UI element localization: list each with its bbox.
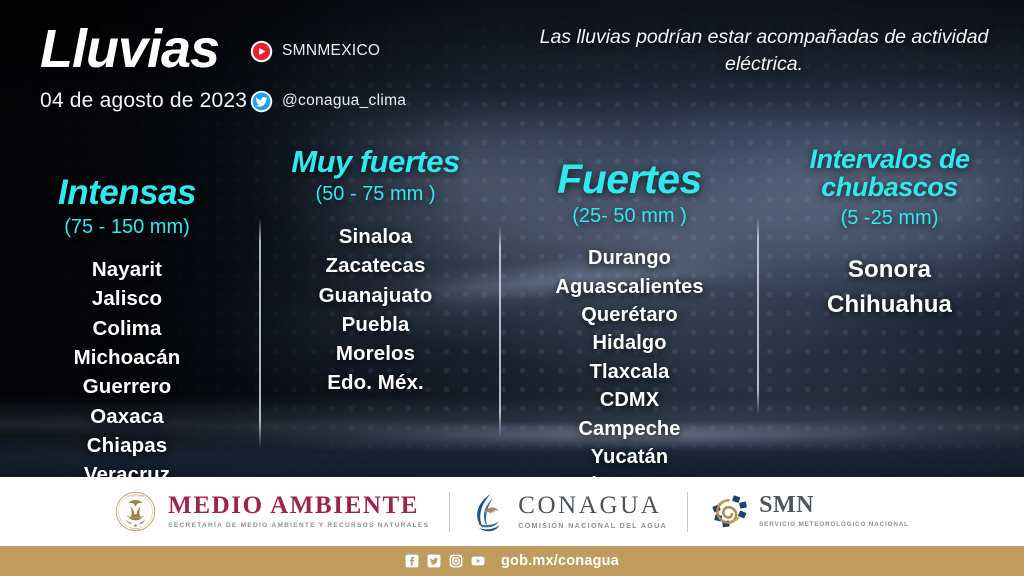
column-range: (5 -25 mm) bbox=[768, 207, 1011, 230]
youtube-icon bbox=[250, 40, 273, 63]
conagua-water-eagle-icon bbox=[470, 492, 507, 532]
list-item: Aguascalientes bbox=[508, 273, 751, 301]
list-item: Guerrero bbox=[12, 372, 242, 401]
rainfall-categories: Intensas (75 - 150 mm) Nayarit Jalisco C… bbox=[0, 140, 1024, 470]
footer-social-bar: gob.mx/conagua bbox=[0, 546, 1024, 576]
column-title: Intensas bbox=[12, 175, 242, 211]
list-item: Sonora bbox=[768, 252, 1011, 288]
column-title: Fuertes bbox=[508, 158, 751, 200]
column-divider bbox=[499, 226, 501, 438]
logo-medio-ambiente: ESTADOS UNIDOS MEXICANOS MEDIO AMBIENTE … bbox=[115, 491, 429, 532]
list-item: Edo. Méx. bbox=[268, 368, 483, 397]
list-item: CDMX bbox=[508, 386, 751, 414]
logo-conagua: CONAGUA COMISIÓN NACIONAL DEL AGUA bbox=[470, 492, 667, 532]
logo-smn: SMN SERVICIO METEOROLÓGICO NACIONAL bbox=[708, 491, 909, 532]
social-handles-group: SMNMEXICO @conagua_clima bbox=[250, 38, 406, 114]
rainfall-column-intensas: Intensas (75 - 150 mm) Nayarit Jalisco C… bbox=[12, 175, 242, 519]
logo-divider bbox=[449, 492, 450, 532]
title-block: Lluvias 04 de agosto de 2023 bbox=[40, 22, 247, 113]
twitter-handle-label: @conagua_clima bbox=[282, 92, 406, 110]
instagram-icon[interactable] bbox=[449, 554, 463, 568]
list-item: Morelos bbox=[268, 339, 483, 368]
list-item: Nayarit bbox=[12, 255, 242, 284]
svg-text:MEXICANOS: MEXICANOS bbox=[130, 528, 142, 531]
list-item: Querétaro bbox=[508, 301, 751, 329]
column-divider bbox=[259, 218, 261, 448]
rainfall-column-intervalos-chubascos: Intervalos de chubascos (5 -25 mm) Sonor… bbox=[768, 146, 1011, 323]
list-item: Oaxaca bbox=[12, 402, 242, 431]
list-item: Tlaxcala bbox=[508, 358, 751, 386]
column-divider bbox=[757, 218, 759, 414]
weather-infographic-poster: Lluvias 04 de agosto de 2023 SMNMEXICO bbox=[0, 0, 1024, 576]
smn-wordmark: SMN SERVICIO METEOROLÓGICO NACIONAL bbox=[759, 493, 909, 529]
column-range: (50 - 75 mm ) bbox=[268, 183, 483, 206]
mexican-eagle-seal-icon: ESTADOS UNIDOS MEXICANOS bbox=[115, 491, 156, 532]
list-item: Sinaloa bbox=[268, 222, 483, 251]
poster-header: Lluvias 04 de agosto de 2023 SMNMEXICO bbox=[0, 0, 1024, 140]
list-item: Puebla bbox=[268, 310, 483, 339]
logo-divider bbox=[687, 492, 688, 532]
logo-title: SMN bbox=[759, 493, 909, 517]
list-item: Hidalgo bbox=[508, 329, 751, 357]
list-item: Jalisco bbox=[12, 284, 242, 313]
rainfall-column-muy-fuertes: Muy fuertes (50 - 75 mm ) Sinaloa Zacate… bbox=[268, 146, 483, 398]
state-list: Durango Aguascalientes Querétaro Hidalgo… bbox=[508, 244, 751, 500]
column-title: Muy fuertes bbox=[268, 146, 483, 178]
youtube-icon[interactable] bbox=[471, 554, 485, 568]
rainfall-column-fuertes: Fuertes (25- 50 mm ) Durango Aguascalien… bbox=[508, 158, 751, 500]
list-item: Campeche bbox=[508, 415, 751, 443]
social-handle-twitter[interactable]: @conagua_clima bbox=[250, 88, 406, 114]
gob-url-label[interactable]: gob.mx/conagua bbox=[501, 553, 619, 569]
facebook-icon[interactable] bbox=[405, 554, 419, 568]
logo-subtitle: COMISIÓN NACIONAL DEL AGUA bbox=[518, 522, 667, 530]
logo-subtitle: SERVICIO METEOROLÓGICO NACIONAL bbox=[759, 520, 909, 529]
logo-title: MEDIO AMBIENTE bbox=[168, 493, 429, 518]
lightning-advisory-text: Las lluvias podrían estar acompañadas de… bbox=[538, 24, 990, 78]
logo-title: CONAGUA bbox=[518, 493, 667, 518]
list-item: Yucatán bbox=[508, 443, 751, 471]
issue-date: 04 de agosto de 2023 bbox=[40, 89, 247, 113]
state-list: Sinaloa Zacatecas Guanajuato Puebla More… bbox=[268, 222, 483, 398]
column-range: (75 - 150 mm) bbox=[12, 216, 242, 239]
conagua-wordmark: CONAGUA COMISIÓN NACIONAL DEL AGUA bbox=[518, 493, 667, 530]
twitter-icon bbox=[250, 90, 273, 113]
page-title: Lluvias bbox=[40, 22, 247, 76]
list-item: Chihuahua bbox=[768, 287, 1011, 323]
list-item: Chiapas bbox=[12, 431, 242, 460]
footer-logo-bar: ESTADOS UNIDOS MEXICANOS MEDIO AMBIENTE … bbox=[0, 477, 1024, 546]
column-range: (25- 50 mm ) bbox=[508, 205, 751, 228]
social-handle-youtube[interactable]: SMNMEXICO bbox=[250, 38, 406, 64]
logo-subtitle: SECRETARÍA DE MEDIO AMBIENTE Y RECURSOS … bbox=[168, 523, 429, 530]
column-title: Intervalos de chubascos bbox=[768, 146, 1011, 202]
youtube-handle-label: SMNMEXICO bbox=[282, 42, 380, 60]
medio-ambiente-wordmark: MEDIO AMBIENTE SECRETARÍA DE MEDIO AMBIE… bbox=[168, 493, 429, 530]
svg-text:ESTADOS UNIDOS: ESTADOS UNIDOS bbox=[127, 494, 144, 497]
list-item: Guanajuato bbox=[268, 281, 483, 310]
state-list: Sonora Chihuahua bbox=[768, 252, 1011, 323]
list-item: Michoacán bbox=[12, 343, 242, 372]
smn-spiral-glyph-icon bbox=[708, 491, 749, 532]
list-item: Colima bbox=[12, 314, 242, 343]
list-item: Zacatecas bbox=[268, 251, 483, 280]
twitter-icon[interactable] bbox=[427, 554, 441, 568]
list-item: Durango bbox=[508, 244, 751, 272]
